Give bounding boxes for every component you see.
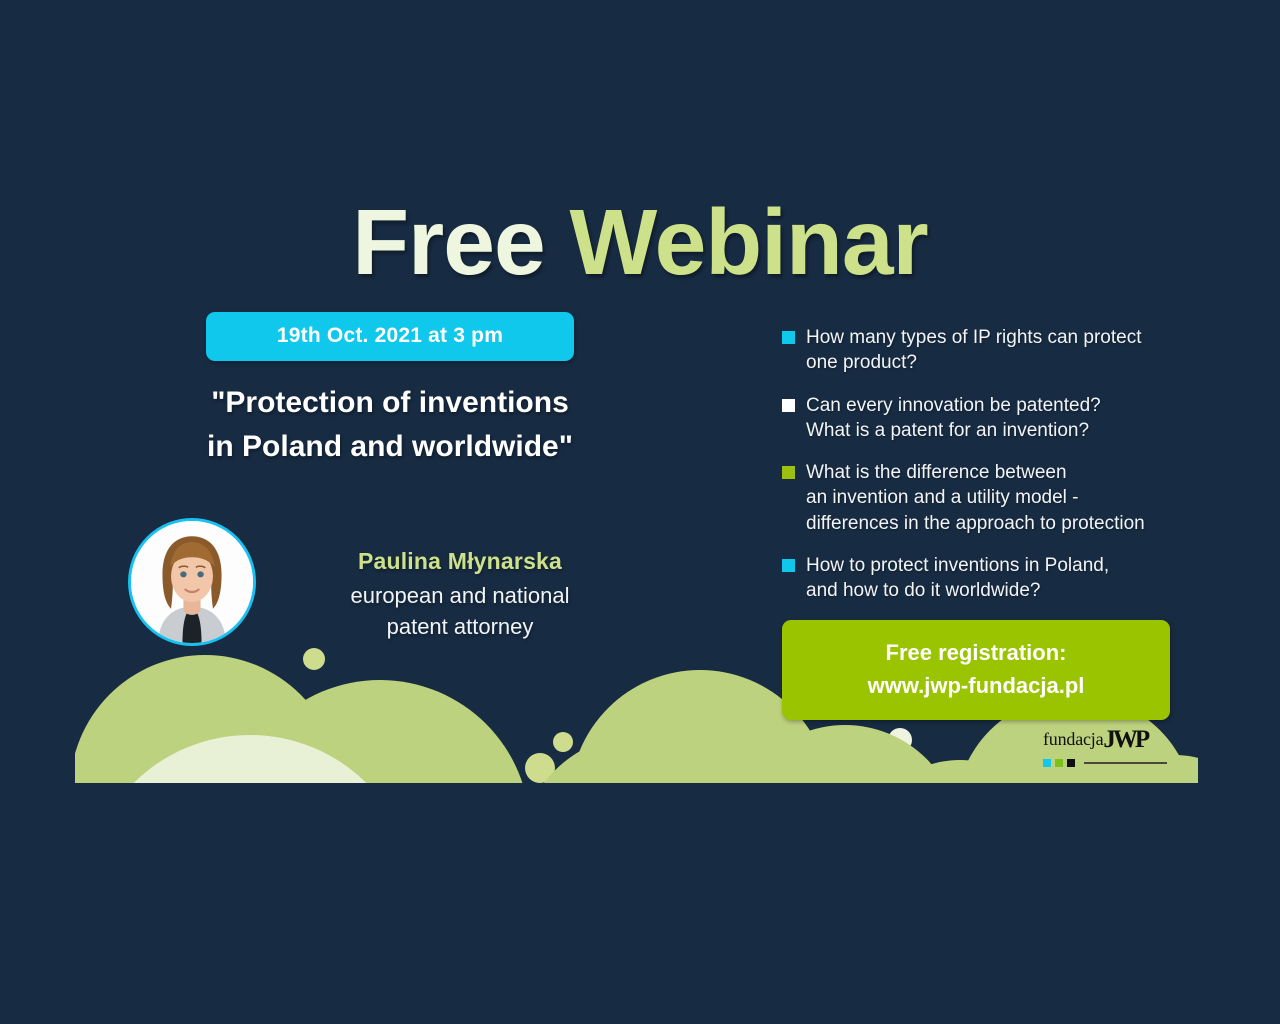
list-item: Can every innovation be patented? What i… (782, 393, 1186, 444)
webinar-title: "Protection of inventions in Poland and … (120, 381, 660, 468)
event-details: 19th Oct. 2021 at 3 pm "Protection of in… (120, 312, 660, 468)
agenda-2-line-1: Can every innovation be patented? (806, 395, 1101, 416)
webinar-title-line-1: "Protection of inventions (120, 381, 660, 425)
avatar (128, 518, 256, 646)
agenda-3-line-1: What is the difference between (806, 462, 1067, 483)
date-badge: 19th Oct. 2021 at 3 pm (206, 312, 574, 361)
cta-line-2: www.jwp-fundacja.pl (782, 669, 1170, 702)
cta-line-1: Free registration: (782, 636, 1170, 669)
speaker-name: Paulina Młynarska (272, 548, 648, 575)
list-item-text: Can every innovation be patented? What i… (806, 393, 1101, 444)
webinar-banner: Free Webinar 19th Oct. 2021 at 3 pm "Pro… (0, 0, 1280, 783)
speaker-block: Paulina Młynarska european and national … (128, 518, 648, 658)
title-word-webinar: Webinar (570, 190, 928, 294)
page-title: Free Webinar (0, 196, 1280, 289)
fundacja-jwp-logo[interactable]: fundacjaJWP (1043, 727, 1167, 775)
speaker-info: Paulina Młynarska european and national … (272, 548, 648, 643)
logo-square-cyan (1043, 759, 1051, 767)
speaker-role-line-2: patent attorney (272, 612, 648, 643)
agenda-4-line-1: How to protect inventions in Poland, (806, 555, 1109, 576)
logo-wordmark: fundacjaJWP (1043, 727, 1167, 752)
list-item-text: What is the difference between an invent… (806, 460, 1145, 536)
bullet-square-icon (782, 331, 795, 344)
agenda-3-line-3: differences in the approach to protectio… (806, 513, 1145, 534)
webinar-title-line-2: in Poland and worldwide" (120, 425, 660, 469)
logo-divider-line (1084, 762, 1167, 764)
list-item-text: How to protect inventions in Poland, and… (806, 553, 1109, 604)
list-item: How to protect inventions in Poland, and… (782, 553, 1186, 604)
list-item-text: How many types of IP rights can protect … (806, 325, 1141, 376)
agenda-3-line-2: an invention and a utility model - (806, 487, 1079, 508)
logo-monogram: JWP (1103, 726, 1147, 753)
agenda-2-line-2: What is a patent for an invention? (806, 420, 1089, 441)
bullet-square-icon (782, 559, 795, 572)
logo-rule (1043, 759, 1167, 767)
poster-canvas: Free Webinar 19th Oct. 2021 at 3 pm "Pro… (0, 0, 1280, 1024)
logo-square-black (1067, 759, 1075, 767)
agenda-1-line-2: one product? (806, 352, 917, 373)
bubble-dot (525, 753, 555, 783)
agenda-list: How many types of IP rights can protect … (782, 325, 1186, 720)
list-item: What is the difference between an invent… (782, 460, 1186, 536)
title-space (545, 190, 570, 294)
speaker-portrait-illustration (131, 521, 253, 643)
speaker-role-line-1: european and national (272, 581, 648, 612)
logo-word-text: fundacja (1043, 729, 1103, 749)
bullet-square-icon (782, 399, 795, 412)
logo-square-green (1055, 759, 1063, 767)
speaker-role: european and national patent attorney (272, 581, 648, 643)
bubble-dot (553, 732, 573, 752)
bullet-square-icon (782, 466, 795, 479)
agenda-1-line-1: How many types of IP rights can protect (806, 327, 1141, 348)
list-item: How many types of IP rights can protect … (782, 325, 1186, 376)
agenda-4-line-2: and how to do it worldwide? (806, 580, 1040, 601)
bubble-dot (888, 728, 912, 752)
free-registration-button[interactable]: Free registration: www.jwp-fundacja.pl (782, 620, 1170, 720)
title-word-free: Free (352, 190, 544, 294)
